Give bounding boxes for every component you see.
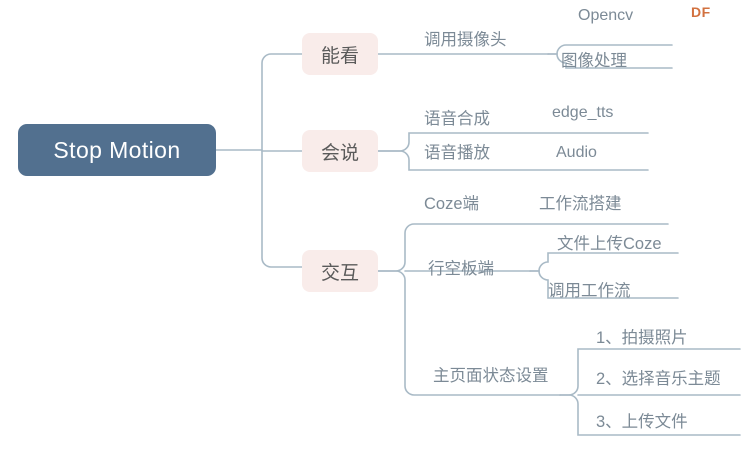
leaf-step-take-photo[interactable]: 1、拍摄照片 (596, 330, 688, 347)
leaf-coze-side[interactable]: Coze端 (424, 196, 479, 213)
df-logo: DF (691, 4, 711, 20)
branch-node-jiaohu[interactable]: 交互 (302, 250, 378, 292)
leaf-call-camera[interactable]: 调用摄像头 (424, 32, 507, 49)
leaf-opencv[interactable]: Opencv (578, 8, 633, 24)
branch-label: 会说 (321, 138, 359, 165)
leaf-call-workflow[interactable]: 调用工作流 (548, 283, 631, 300)
branch-label: 交互 (321, 258, 359, 285)
branch-node-huishuo[interactable]: 会说 (302, 130, 378, 172)
leaf-unihiker-side[interactable]: 行空板端 (428, 261, 494, 278)
root-node[interactable]: Stop Motion (18, 124, 216, 176)
leaf-speech-synthesis[interactable]: 语音合成 (424, 111, 490, 128)
leaf-step-upload-file[interactable]: 3、上传文件 (596, 414, 688, 431)
leaf-workflow-build[interactable]: 工作流搭建 (539, 196, 622, 213)
leaf-audio[interactable]: Audio (556, 145, 597, 161)
edge-trunk-bracket (262, 54, 302, 267)
branch-label: 能看 (321, 41, 359, 68)
edge-board-upload (530, 253, 678, 271)
leaf-mainpage-state-settings[interactable]: 主页面状态设置 (433, 368, 549, 385)
edge-huishuo-audio (378, 151, 648, 170)
leaf-upload-file-coze[interactable]: 文件上传Coze (557, 236, 662, 253)
branch-node-nengkan[interactable]: 能看 (302, 33, 378, 75)
edge-huishuo-tts (378, 133, 648, 151)
leaf-step-select-music-theme[interactable]: 2、选择音乐主题 (596, 371, 721, 388)
root-label: Stop Motion (53, 137, 180, 164)
leaf-edge-tts[interactable]: edge_tts (552, 105, 613, 121)
leaf-image-processing[interactable]: 图像处理 (561, 53, 627, 70)
leaf-speech-playback[interactable]: 语音播放 (424, 145, 490, 162)
